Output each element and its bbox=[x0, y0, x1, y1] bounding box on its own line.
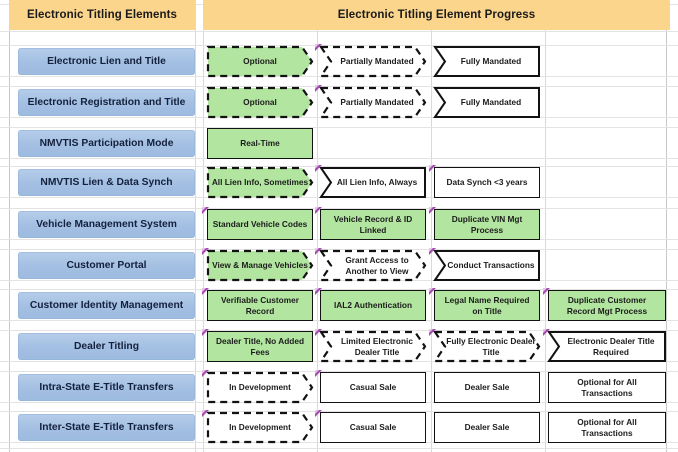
stage-shape-text: Fully Electronic Dealer Title bbox=[442, 336, 540, 357]
element-label-2[interactable]: NMVTIS Participation Mode bbox=[18, 130, 195, 157]
stage-shape-r6-c1[interactable]: IAL2 Authentication bbox=[320, 290, 426, 321]
stage-shape-text: Duplicate VIN Mgt Process bbox=[435, 214, 539, 235]
element-label-text: Electronic Registration and Title bbox=[28, 97, 186, 108]
header-cell-progress: Electronic Titling Element Progress bbox=[203, 0, 670, 30]
stage-shape-r1-c2[interactable]: Fully Mandated bbox=[434, 87, 540, 118]
stage-shape-r4-c0[interactable]: Standard Vehicle Codes bbox=[207, 209, 313, 240]
element-label-text: NMVTIS Lien & Data Synch bbox=[40, 177, 172, 188]
element-label-text: Customer Identity Management bbox=[30, 300, 183, 311]
stage-shape-text: In Development bbox=[225, 422, 295, 432]
stage-shape-text: Standard Vehicle Codes bbox=[209, 219, 312, 229]
element-label-text: Electronic Lien and Title bbox=[47, 56, 166, 67]
stage-shape-r8-c0[interactable]: In Development bbox=[207, 372, 313, 403]
stage-shape-r7-c2[interactable]: Fully Electronic Dealer Title bbox=[434, 331, 540, 362]
element-label-text: Inter-State E-Title Transfers bbox=[39, 422, 173, 433]
stage-shape-text: Casual Sale bbox=[346, 422, 401, 432]
stage-shape-text: Optional bbox=[239, 97, 281, 107]
stage-shape-r7-c1[interactable]: Limited Electronic Dealer Title bbox=[320, 331, 426, 362]
stage-shape-text: Grant Access to Another to View bbox=[328, 255, 426, 276]
stage-shape-text: Data Synch <3 years bbox=[443, 177, 532, 187]
stage-shape-text: Duplicate Customer Record Mgt Process bbox=[549, 295, 665, 316]
stage-shape-text: Dealer Sale bbox=[461, 422, 514, 432]
stage-shape-text: Partially Mandated bbox=[336, 56, 417, 66]
element-label-text: Vehicle Management System bbox=[36, 219, 177, 230]
stage-shape-text: Verifiable Customer Record bbox=[208, 295, 312, 316]
stage-shape-text: Optional for All Transactions bbox=[549, 417, 665, 438]
stage-shape-r3-c0[interactable]: All Lien Info, Sometimes bbox=[207, 167, 313, 198]
element-label-text: Dealer Titling bbox=[74, 341, 139, 352]
stage-shape-text: Casual Sale bbox=[346, 382, 401, 392]
stage-shape-r9-c2[interactable]: Dealer Sale bbox=[434, 412, 540, 443]
stage-shape-text: Real-Time bbox=[236, 138, 284, 148]
stage-shape-text: Conduct Transactions bbox=[443, 260, 538, 270]
stage-shape-r8-c2[interactable]: Dealer Sale bbox=[434, 372, 540, 403]
stage-shape-r4-c2[interactable]: Duplicate VIN Mgt Process bbox=[434, 209, 540, 240]
header-cell-elements: Electronic Titling Elements bbox=[9, 0, 195, 30]
element-label-1[interactable]: Electronic Registration and Title bbox=[18, 89, 195, 116]
element-label-text: NMVTIS Participation Mode bbox=[40, 138, 174, 149]
stage-shape-text: All Lien Info, Always bbox=[333, 177, 421, 187]
stage-shape-text: Partially Mandated bbox=[336, 97, 417, 107]
element-label-0[interactable]: Electronic Lien and Title bbox=[18, 48, 195, 75]
stage-shape-text: Optional bbox=[239, 56, 281, 66]
stage-shape-text: In Development bbox=[225, 382, 295, 392]
element-label-6[interactable]: Customer Identity Management bbox=[18, 292, 195, 319]
stage-shape-r9-c1[interactable]: Casual Sale bbox=[320, 412, 426, 443]
stage-shape-text: Electronic Dealer Title Required bbox=[556, 336, 666, 357]
stage-shape-r3-c2[interactable]: Data Synch <3 years bbox=[434, 167, 540, 198]
stage-shape-text: Fully Mandated bbox=[457, 97, 525, 107]
stage-shape-r5-c0[interactable]: View & Manage Vehicles bbox=[207, 250, 313, 281]
header-elements-label: Electronic Titling Elements bbox=[27, 9, 177, 21]
stage-shape-text: Legal Name Required on Title bbox=[435, 295, 539, 316]
element-label-7[interactable]: Dealer Titling bbox=[18, 333, 195, 360]
stage-shape-r1-c0[interactable]: Optional bbox=[207, 87, 313, 118]
stage-shape-r7-c0[interactable]: Dealer Title, No Added Fees bbox=[207, 331, 313, 362]
stage-shape-text: Vehicle Record & ID Linked bbox=[321, 214, 425, 235]
stage-shape-r3-c1[interactable]: All Lien Info, Always bbox=[320, 167, 426, 198]
stage-shape-r5-c1[interactable]: Grant Access to Another to View bbox=[320, 250, 426, 281]
stage-shape-r1-c1[interactable]: Partially Mandated bbox=[320, 87, 426, 118]
stage-shape-r4-c1[interactable]: Vehicle Record & ID Linked bbox=[320, 209, 426, 240]
stage-shape-r9-c0[interactable]: In Development bbox=[207, 412, 313, 443]
element-label-9[interactable]: Inter-State E-Title Transfers bbox=[18, 414, 195, 441]
stage-shape-text: Optional for All Transactions bbox=[549, 377, 665, 398]
element-label-3[interactable]: NMVTIS Lien & Data Synch bbox=[18, 169, 195, 196]
stage-shape-text: All Lien Info, Sometimes bbox=[208, 177, 312, 187]
stage-shape-r5-c2[interactable]: Conduct Transactions bbox=[434, 250, 540, 281]
stage-shape-r6-c3[interactable]: Duplicate Customer Record Mgt Process bbox=[548, 290, 666, 321]
stage-shape-text: IAL2 Authentication bbox=[330, 300, 416, 310]
stage-shape-text: Dealer Sale bbox=[461, 382, 514, 392]
stage-shape-r0-c2[interactable]: Fully Mandated bbox=[434, 46, 540, 77]
stage-shape-r0-c0[interactable]: Optional bbox=[207, 46, 313, 77]
stage-shape-text: Fully Mandated bbox=[457, 56, 525, 66]
stage-shape-r2-c0[interactable]: Real-Time bbox=[207, 128, 313, 159]
stage-shape-r6-c0[interactable]: Verifiable Customer Record bbox=[207, 290, 313, 321]
element-label-text: Intra-State E-Title Transfers bbox=[39, 382, 173, 393]
stage-shape-r7-c3[interactable]: Electronic Dealer Title Required bbox=[548, 331, 666, 362]
header-progress-label: Electronic Titling Element Progress bbox=[338, 9, 536, 21]
element-label-4[interactable]: Vehicle Management System bbox=[18, 211, 195, 238]
stage-shape-text: Limited Electronic Dealer Title bbox=[328, 336, 426, 357]
stage-shape-text: View & Manage Vehicles bbox=[208, 260, 312, 270]
element-label-text: Customer Portal bbox=[66, 260, 146, 271]
stage-shape-r6-c2[interactable]: Legal Name Required on Title bbox=[434, 290, 540, 321]
stage-shape-r0-c1[interactable]: Partially Mandated bbox=[320, 46, 426, 77]
element-label-8[interactable]: Intra-State E-Title Transfers bbox=[18, 374, 195, 401]
element-label-5[interactable]: Customer Portal bbox=[18, 252, 195, 279]
stage-shape-r8-c1[interactable]: Casual Sale bbox=[320, 372, 426, 403]
electronic-titling-progress-matrix: Electronic Titling Elements Electronic T… bbox=[0, 0, 678, 452]
stage-shape-text: Dealer Title, No Added Fees bbox=[208, 336, 312, 357]
stage-shape-r9-c3[interactable]: Optional for All Transactions bbox=[548, 412, 666, 443]
stage-shape-r8-c3[interactable]: Optional for All Transactions bbox=[548, 372, 666, 403]
